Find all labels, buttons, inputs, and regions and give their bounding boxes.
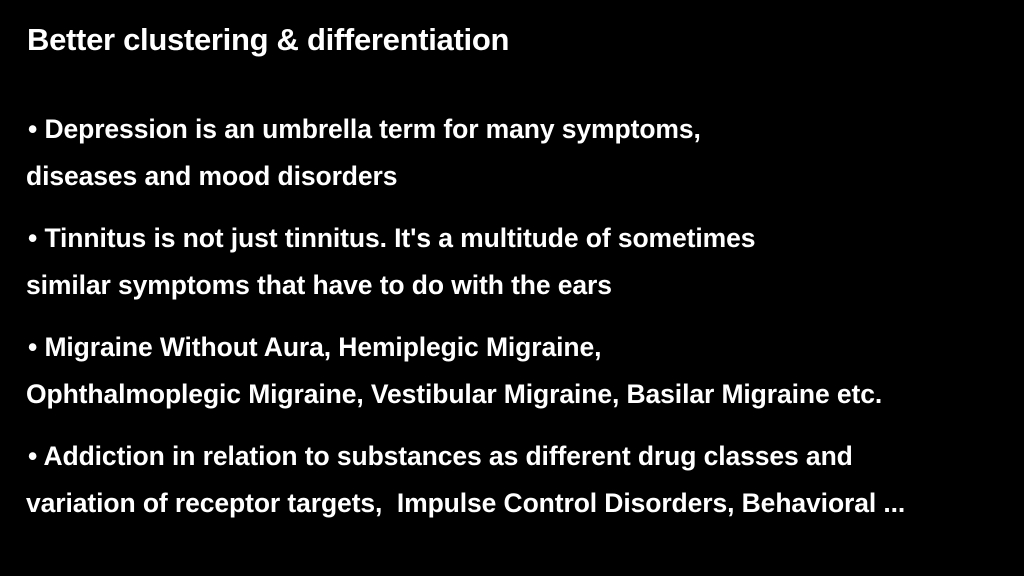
- bullet-item: • Depression is an umbrella term for man…: [0, 106, 1024, 200]
- presentation-slide: Better clustering & differentiation • De…: [0, 0, 1024, 576]
- bullet-line: • Addiction in relation to substances as…: [0, 433, 1024, 480]
- bullet-item: • Migraine Without Aura, Hemiplegic Migr…: [0, 324, 1024, 418]
- bullet-item: • Tinnitus is not just tinnitus. It's a …: [0, 215, 1024, 309]
- page-title: Better clustering & differentiation: [27, 21, 987, 59]
- slide-body: • Depression is an umbrella term for man…: [0, 106, 1024, 527]
- bullet-line: Ophthalmoplegic Migraine, Vestibular Mig…: [0, 371, 1024, 418]
- bullet-line: diseases and mood disorders: [0, 153, 1024, 200]
- bullet-line: • Tinnitus is not just tinnitus. It's a …: [0, 215, 1024, 262]
- bullet-item: • Addiction in relation to substances as…: [0, 433, 1024, 527]
- bullet-line: variation of receptor targets, Impulse C…: [0, 480, 1024, 527]
- bullet-line: • Depression is an umbrella term for man…: [0, 106, 1024, 153]
- bullet-line: similar symptoms that have to do with th…: [0, 262, 1024, 309]
- bullet-line: • Migraine Without Aura, Hemiplegic Migr…: [0, 324, 1024, 371]
